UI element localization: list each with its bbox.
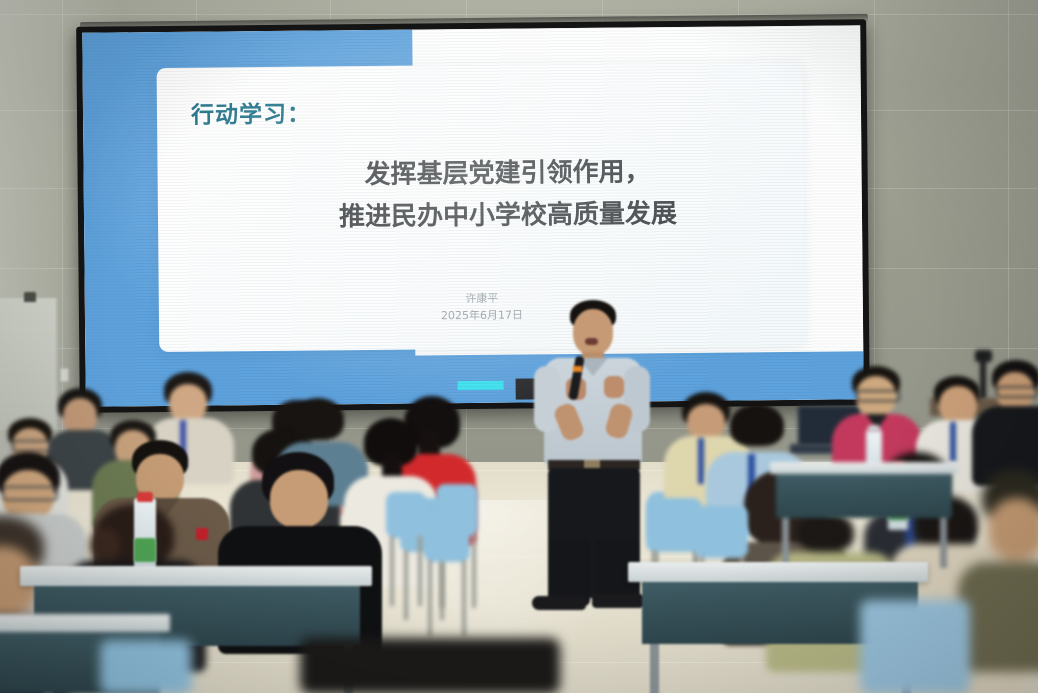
slide-headline-line-2: 推进民办中小学校高质量发展 xyxy=(218,192,798,240)
slide-cyan-accent-bar xyxy=(458,381,504,390)
slide-headline: 发挥基层党建引领作用， 推进民办中小学校高质量发展 xyxy=(217,150,798,240)
whiteboard xyxy=(0,298,58,430)
presenter-hand-right xyxy=(604,376,624,398)
presenter-sleeve-left xyxy=(534,366,560,432)
whiteboard-mount-clip xyxy=(24,292,36,302)
slide-kicker-text: 行动学习： xyxy=(191,95,311,130)
foreground-bag xyxy=(300,638,560,693)
wall-socket xyxy=(60,368,69,382)
water-bottle-right-2-cap xyxy=(868,425,880,432)
wall-tile-seam xyxy=(0,14,1038,15)
presenter-shoe-right xyxy=(592,594,646,608)
presenter-mouth xyxy=(585,338,598,345)
microphone-stand-head xyxy=(975,350,992,362)
presenter-head xyxy=(573,309,613,355)
slide-headline-line-1: 发挥基层党建引领作用， xyxy=(217,150,797,198)
slide-byline: 许康平 2025年6月17日 xyxy=(159,287,805,327)
presenter-shoe-left xyxy=(532,596,586,610)
water-bottle-left-label xyxy=(134,538,156,562)
slide-content-card: 行动学习： 发挥基层党建引领作用， 推进民办中小学校高质量发展 许康平 2025… xyxy=(157,62,806,352)
microphone-stand xyxy=(980,356,986,400)
projection-screen: 行动学习： 发挥基层党建引领作用， 推进民办中小学校高质量发展 许康平 2025… xyxy=(76,19,870,413)
presentation-slide: 行动学习： 发挥基层党建引领作用， 推进民办中小学校高质量发展 许康平 2025… xyxy=(82,25,864,406)
water-bottle-left-cap xyxy=(137,492,153,502)
screen-display-area: 行动学习： 发挥基层党建引领作用， 推进民办中小学校高质量发展 许康平 2025… xyxy=(82,25,864,406)
conference-room-photo: 行动学习： 发挥基层党建引领作用， 推进民办中小学校高质量发展 许康平 2025… xyxy=(0,0,1038,693)
microphone-tip xyxy=(573,366,582,372)
party-emblem-pin xyxy=(196,528,208,540)
